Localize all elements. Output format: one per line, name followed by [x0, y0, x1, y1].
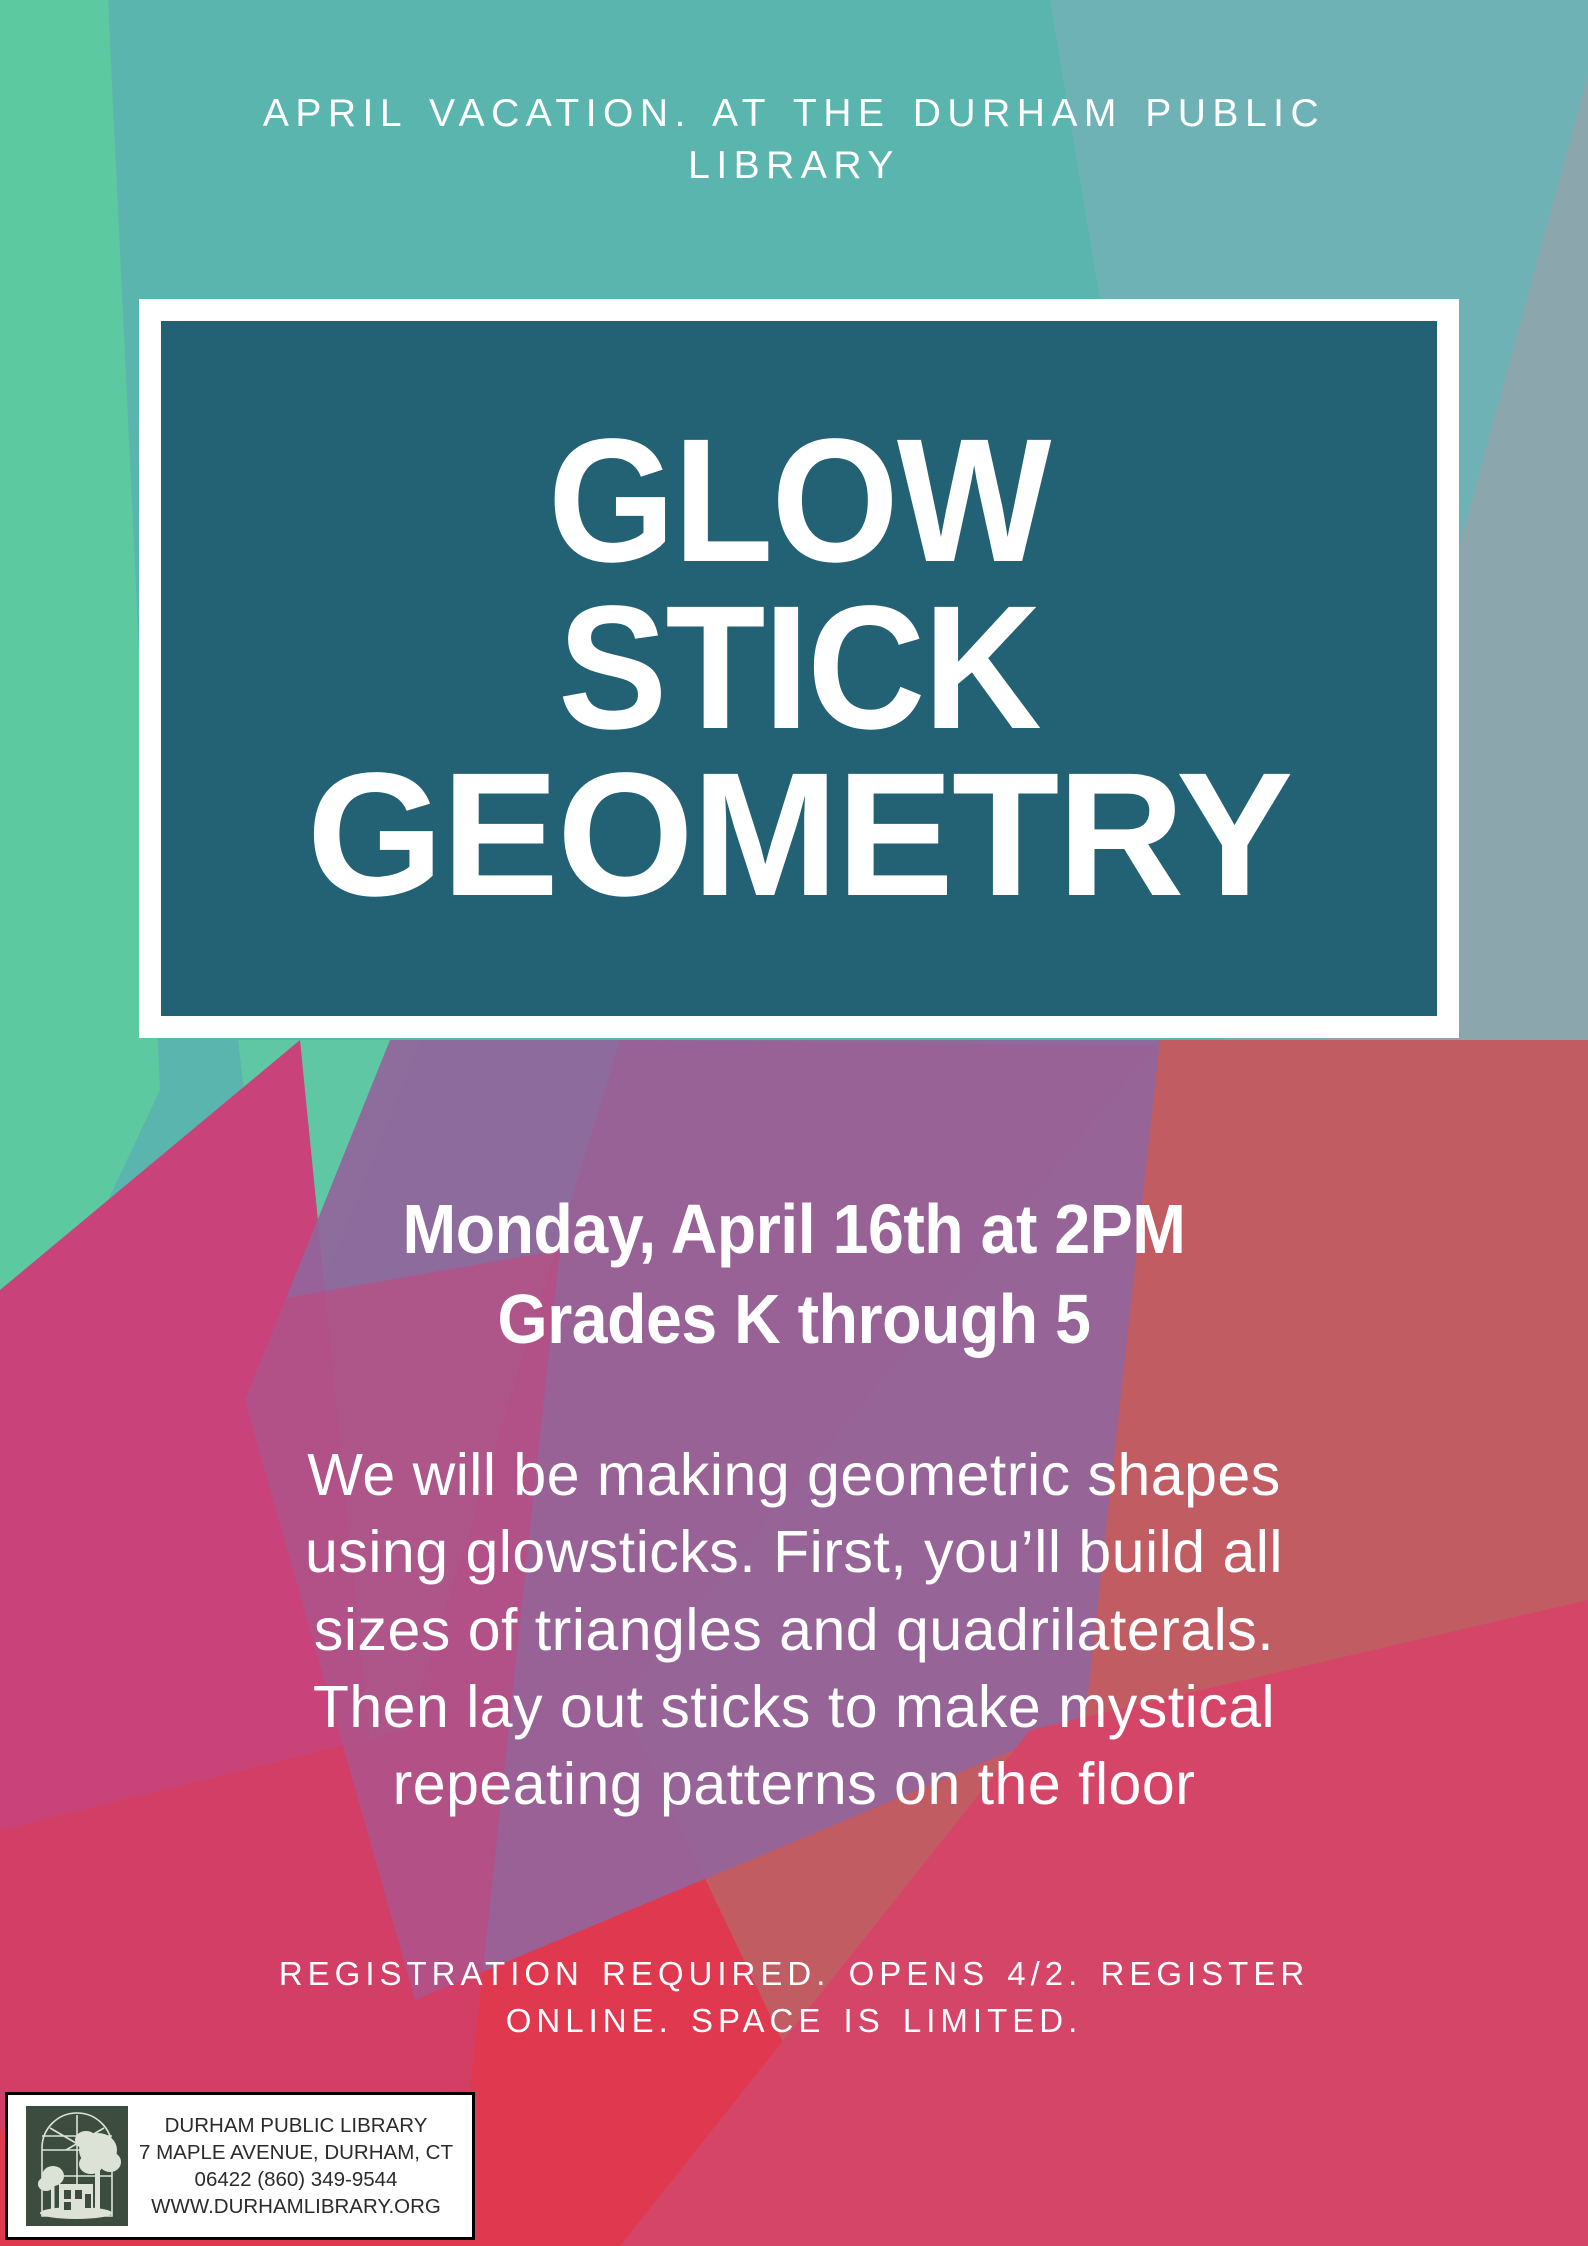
library-address: 7 MAPLE AVENUE, DURHAM, CT — [134, 2139, 458, 2166]
library-name: DURHAM PUBLIC LIBRARY — [134, 2112, 458, 2139]
registration-line-2: ONLINE. SPACE IS LIMITED. — [149, 1998, 1439, 2045]
event-date-line: Monday, April 16th at 2PM — [64, 1185, 1525, 1275]
eyebrow-text: APRIL VACATION. AT THE DURHAM PUBLIC LIB… — [169, 88, 1419, 192]
description-line-1: We will be making geometric shapes — [199, 1437, 1389, 1514]
event-details: Monday, April 16th at 2PM Grades K throu… — [0, 1185, 1588, 1364]
registration-line-1: REGISTRATION REQUIRED. OPENS 4/2. REGIST… — [149, 1951, 1439, 1998]
registration-notice: REGISTRATION REQUIRED. OPENS 4/2. REGIST… — [149, 1951, 1439, 2045]
event-grades-line: Grades K through 5 — [64, 1275, 1525, 1365]
library-arch-window-tree-logo-icon — [26, 2106, 128, 2226]
description-line-2: using glowsticks. First, you’ll build al… — [199, 1514, 1389, 1591]
event-description: We will be making geometric shapes using… — [199, 1437, 1389, 1823]
title-box: GLOW STICK GEOMETRY — [161, 321, 1437, 1016]
title-frame: GLOW STICK GEOMETRY — [139, 299, 1459, 1038]
title-line-2: STICK — [558, 585, 1040, 752]
library-phone: 06422 (860) 349-9544 — [134, 2166, 458, 2193]
description-line-5: repeating patterns on the floor — [199, 1746, 1389, 1823]
library-info-card: DURHAM PUBLIC LIBRARY 7 MAPLE AVENUE, DU… — [5, 2092, 475, 2240]
library-contact-text: DURHAM PUBLIC LIBRARY 7 MAPLE AVENUE, DU… — [128, 2112, 462, 2221]
title-line-1: GLOW — [548, 418, 1050, 585]
poster-canvas: APRIL VACATION. AT THE DURHAM PUBLIC LIB… — [0, 0, 1588, 2246]
library-website: WWW.DURHAMLIBRARY.ORG — [134, 2193, 458, 2220]
description-line-4: Then lay out sticks to make mystical — [199, 1669, 1389, 1746]
title-line-3: GEOMETRY — [307, 752, 1292, 919]
description-line-3: sizes of triangles and quadrilaterals. — [199, 1592, 1389, 1669]
